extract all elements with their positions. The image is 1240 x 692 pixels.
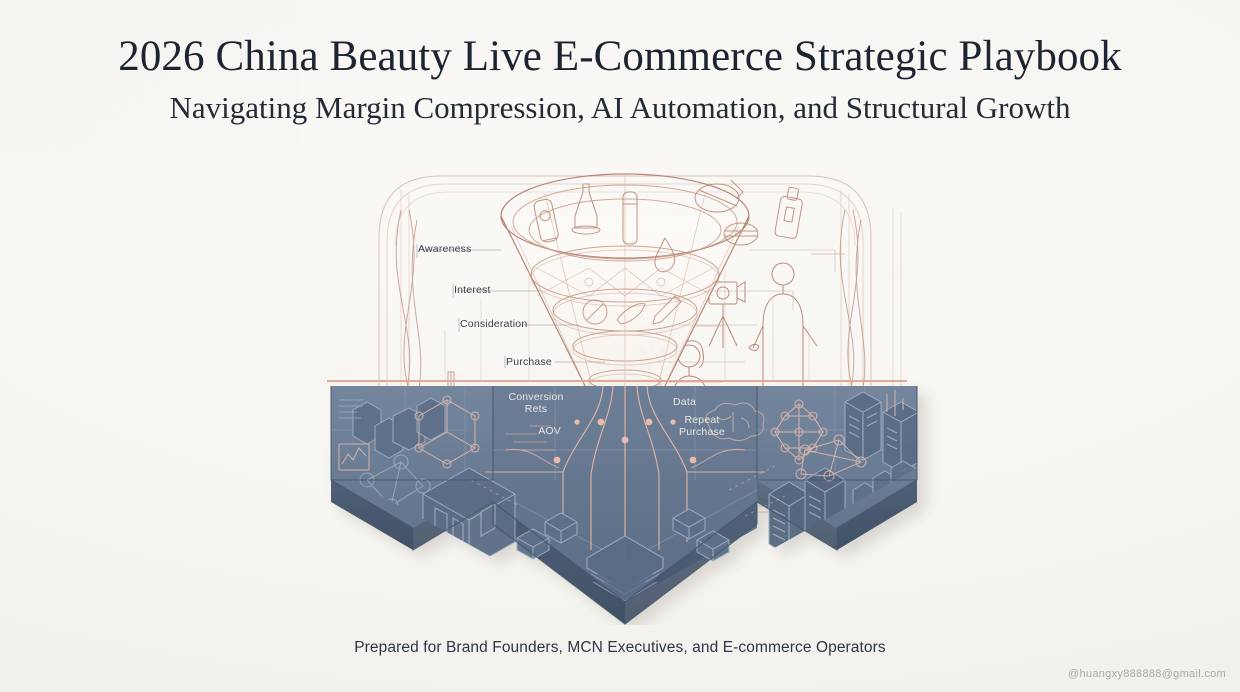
cover-illustration: Awareness Interest Consideration Purchas…: [305, 150, 945, 625]
page-subtitle: Navigating Margin Compression, AI Automa…: [0, 91, 1240, 125]
watermark: @huangxy888888@gmail.com: [1068, 668, 1226, 680]
title-block: 2026 China Beauty Live E-Commerce Strate…: [0, 34, 1240, 126]
footer-note: Prepared for Brand Founders, MCN Executi…: [0, 639, 1240, 657]
page-title: 2026 China Beauty Live E-Commerce Strate…: [0, 34, 1240, 80]
ribbon-strands-left: [396, 210, 421, 398]
ribbon-strands-right: [840, 210, 865, 398]
isometric-data-platform: [331, 386, 919, 624]
